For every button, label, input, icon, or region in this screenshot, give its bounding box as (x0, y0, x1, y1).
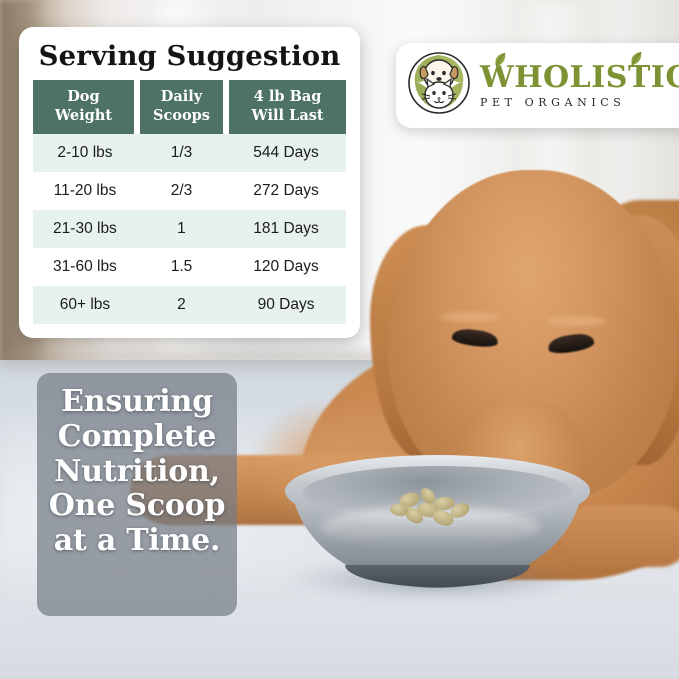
table-row: 31-60 lbs 1.5 120 Days (33, 248, 346, 286)
table-header: Dog Weight Daily Scoops 4 lb Bag Will La… (33, 80, 346, 134)
column-header-line: Dog (67, 88, 99, 105)
cell-dog-weight: 2-10 lbs (33, 134, 137, 172)
marketing-tagline-text: Ensuring Complete Nutrition, One Scoop a… (43, 385, 231, 559)
cell-dog-weight: 21-30 lbs (33, 210, 137, 248)
cell-dog-weight: 11-20 lbs (33, 172, 137, 210)
tagline-line: One Scoop (43, 489, 231, 524)
table-row: 60+ lbs 2 90 Days (33, 286, 346, 324)
brand-name-text: WHOLISTIC (480, 60, 679, 95)
table-row: 11-20 lbs 2/3 272 Days (33, 172, 346, 210)
serving-suggestion-card: Serving Suggestion Dog Weight Daily Scoo… (19, 27, 360, 338)
dog-brow-left (440, 312, 500, 322)
brand-logo-card: WHOLISTIC PET ORGANICS ® (396, 43, 679, 128)
serving-suggestion-title: Serving Suggestion (33, 41, 346, 71)
table-row: 21-30 lbs 1 181 Days (33, 210, 346, 248)
brand-name: WHOLISTIC (480, 63, 679, 93)
tagline-line: at a Time. (43, 524, 231, 559)
dog-brow-right (546, 316, 606, 326)
tagline-line: Ensuring (43, 385, 231, 420)
column-header-line: Daily (161, 88, 202, 105)
brand-subtitle: PET ORGANICS ® (480, 97, 679, 108)
tagline-line: Nutrition, (43, 455, 231, 490)
table-header-row: Dog Weight Daily Scoops 4 lb Bag Will La… (33, 80, 346, 134)
cell-daily-scoops: 2/3 (137, 172, 226, 210)
cell-daily-scoops: 1/3 (137, 134, 226, 172)
cell-daily-scoops: 1 (137, 210, 226, 248)
cell-bag-duration: 272 Days (226, 172, 346, 210)
leaf-icon (493, 52, 508, 69)
cell-bag-duration: 120 Days (226, 248, 346, 286)
marketing-tagline-card: Ensuring Complete Nutrition, One Scoop a… (37, 373, 237, 616)
column-header-bag-duration: 4 lb Bag Will Last (226, 80, 346, 134)
cell-bag-duration: 90 Days (226, 286, 346, 324)
table-row: 2-10 lbs 1/3 544 Days (33, 134, 346, 172)
leaf-icon (629, 51, 644, 68)
column-header-daily-scoops: Daily Scoops (137, 80, 226, 134)
cell-daily-scoops: 1.5 (137, 248, 226, 286)
column-header-line: 4 lb Bag (254, 88, 322, 105)
cell-bag-duration: 544 Days (226, 134, 346, 172)
column-header-line: Weight (55, 107, 112, 124)
brand-wordmark: WHOLISTIC PET ORGANICS ® (480, 63, 679, 108)
table-body: 2-10 lbs 1/3 544 Days 11-20 lbs 2/3 272 … (33, 134, 346, 324)
cell-dog-weight: 31-60 lbs (33, 248, 137, 286)
column-header-line: Scoops (153, 107, 210, 124)
cell-bag-duration: 181 Days (226, 210, 346, 248)
tagline-line: Complete (43, 420, 231, 455)
cell-daily-scoops: 2 (137, 286, 226, 324)
cell-dog-weight: 60+ lbs (33, 286, 137, 324)
dog-rear-leg (560, 505, 679, 567)
column-header-dog-weight: Dog Weight (33, 80, 137, 134)
serving-suggestion-table: Dog Weight Daily Scoops 4 lb Bag Will La… (33, 80, 346, 324)
brand-subtitle-text: PET ORGANICS (480, 96, 625, 109)
column-header-line: Will Last (252, 107, 324, 124)
dog-and-cat-circle-emblem-icon (406, 50, 472, 121)
